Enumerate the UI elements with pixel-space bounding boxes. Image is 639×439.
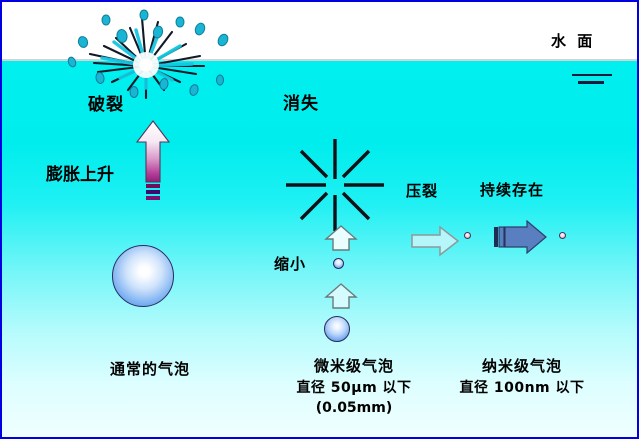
water-droplets-icon [58, 6, 238, 110]
right-arrow-outline-icon [410, 224, 460, 258]
surface-legend-tick-icon [572, 74, 612, 76]
nano-bubble-dot-icon [559, 232, 566, 239]
label-burst: 破裂 [88, 95, 124, 116]
water-surface-label: 水 面 [551, 32, 595, 51]
label-crush: 压裂 [406, 182, 438, 201]
up-arrow-gradient-icon [136, 120, 170, 202]
right-arrow-solid-icon [491, 220, 547, 254]
star-burst-icon [280, 133, 390, 237]
label-vanish: 消失 [283, 94, 319, 115]
bubble-micro-icon [324, 316, 350, 342]
diagram-canvas: 水 面 破裂 消失 膨胀上升 压裂 持续存在 缩小 通常的气泡 微米级气泡 直径… [0, 0, 639, 439]
label-persist: 持续存在 [480, 181, 544, 200]
up-arrow-outline-icon [324, 282, 358, 310]
surface-legend-tick-icon [578, 81, 604, 84]
caption-micro-bubble: 微米级气泡 直径 50μm 以下 (0.05mm) [279, 356, 429, 418]
caption-nano-name: 纳米级气泡 [442, 356, 602, 378]
caption-nano-bubble: 纳米级气泡 直径 100nm 以下 [442, 356, 602, 398]
label-expand-rise: 膨胀上升 [46, 165, 114, 186]
label-ordinary-bubble: 通常的气泡 [110, 360, 190, 379]
label-shrink: 缩小 [274, 255, 306, 274]
nano-bubble-dot-icon [464, 232, 471, 239]
caption-nano-diameter: 直径 100nm 以下 [442, 378, 602, 398]
bubble-tiny-icon [333, 258, 344, 269]
caption-micro-note: (0.05mm) [279, 398, 429, 418]
caption-micro-diameter: 直径 50μm 以下 [279, 378, 429, 398]
up-arrow-outline-icon [324, 224, 358, 252]
bubble-large-icon [112, 245, 174, 307]
caption-micro-name: 微米级气泡 [279, 356, 429, 378]
